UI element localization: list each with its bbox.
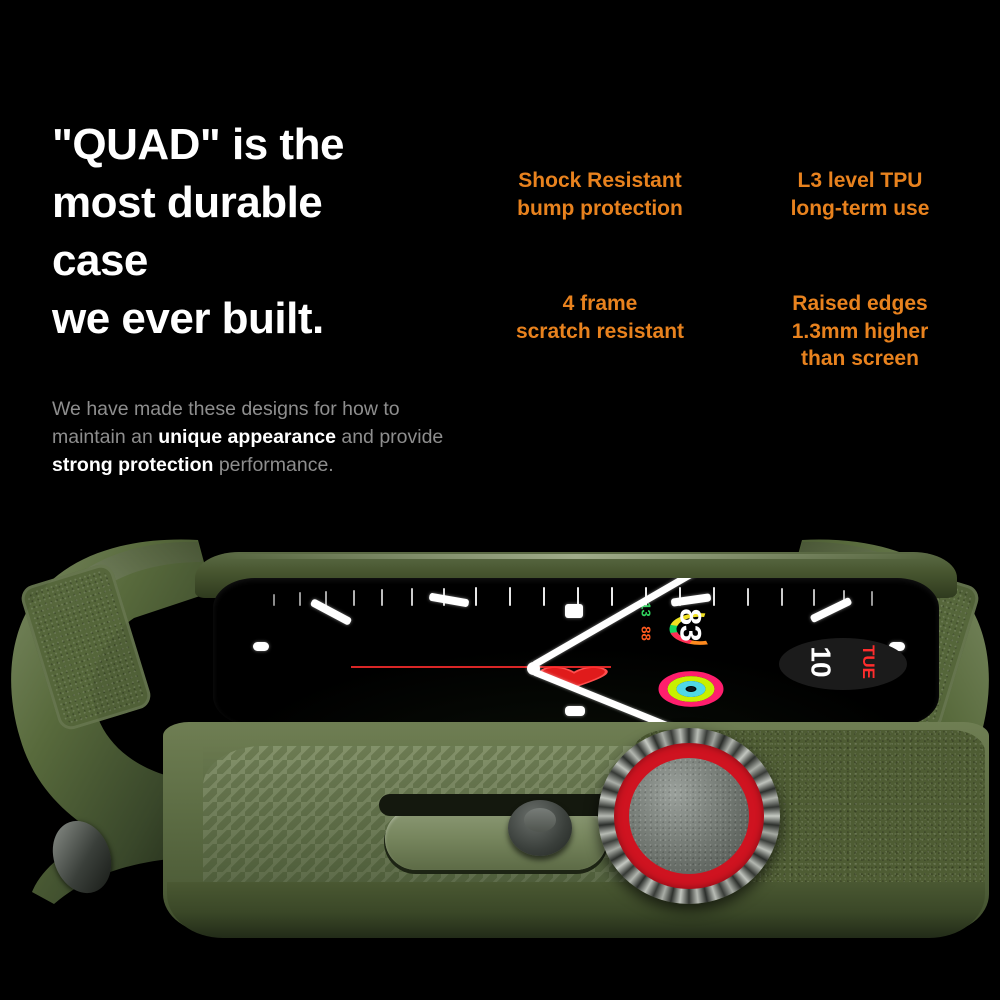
page-title: "QUAD" is the most durable case we ever … xyxy=(52,116,472,348)
feature-line: L3 level TPU xyxy=(742,167,978,195)
feature-line: 1.3mm higher xyxy=(742,318,978,346)
feature-shock-resistant: Shock Resistant bump protection xyxy=(482,167,718,222)
feature-line: Shock Resistant xyxy=(482,167,718,195)
activity-rings-complication xyxy=(631,656,751,722)
heart-rate-complication xyxy=(513,652,635,704)
subcopy-suffix: performance. xyxy=(213,454,333,476)
product-marketing-image: "QUAD" is the most durable case we ever … xyxy=(0,0,1000,1000)
headline-line-2: most durable xyxy=(52,174,472,232)
crown-center-texture xyxy=(629,758,749,874)
second-hand xyxy=(351,666,611,668)
round-button-nub xyxy=(524,808,556,832)
feature-line: bump protection xyxy=(482,195,718,223)
hour-marker-6 xyxy=(565,706,585,716)
feature-line: long-term use xyxy=(742,195,978,223)
date-complication: 10 TUE xyxy=(779,638,907,690)
case-bottom-edge xyxy=(167,882,985,938)
hands-pivot xyxy=(527,662,540,675)
subcopy-emphasis-1: unique appearance xyxy=(158,426,336,448)
hour-marker-12 xyxy=(565,604,583,618)
subcopy-emphasis-2: strong protection xyxy=(52,454,213,476)
side-button-cap xyxy=(379,794,615,816)
date-weekday: TUE xyxy=(858,645,878,679)
gauge-value: 83 xyxy=(673,608,707,641)
feature-l3-tpu: L3 level TPU long-term use xyxy=(742,167,978,222)
feature-line: Raised edges xyxy=(742,290,978,318)
product-photo: 83 13 88 xyxy=(0,512,1000,942)
hour-marker xyxy=(253,642,269,651)
date-number: 10 xyxy=(805,646,837,677)
digital-crown[interactable] xyxy=(598,728,780,904)
gauge-complication: 83 13 88 xyxy=(641,598,759,660)
gauge-small-bottom: 88 xyxy=(639,626,654,640)
headline-line-3: case xyxy=(52,232,472,290)
feature-line: scratch resistant xyxy=(482,318,718,346)
subcopy-middle: and provide xyxy=(336,426,443,448)
feature-line: 4 frame xyxy=(482,290,718,318)
headline-line-4: we ever built. xyxy=(52,290,472,348)
side-button[interactable] xyxy=(385,808,607,870)
case-body: 83 13 88 xyxy=(75,530,925,922)
watch-screen: 83 13 88 xyxy=(213,578,939,726)
feature-raised-edges: Raised edges 1.3mm higher than screen xyxy=(742,290,978,373)
headline-line-1: "QUAD" is the xyxy=(52,116,472,174)
lip-highlight xyxy=(225,554,926,559)
side-round-button[interactable] xyxy=(508,800,572,856)
feature-4-frame: 4 frame scratch resistant xyxy=(482,290,718,345)
feature-line: than screen xyxy=(742,345,978,373)
subheading-paragraph: We have made these designs for how to ma… xyxy=(52,395,452,479)
crown-center xyxy=(629,758,749,874)
activity-rings xyxy=(631,656,751,722)
heart-rate-icon xyxy=(513,652,635,704)
